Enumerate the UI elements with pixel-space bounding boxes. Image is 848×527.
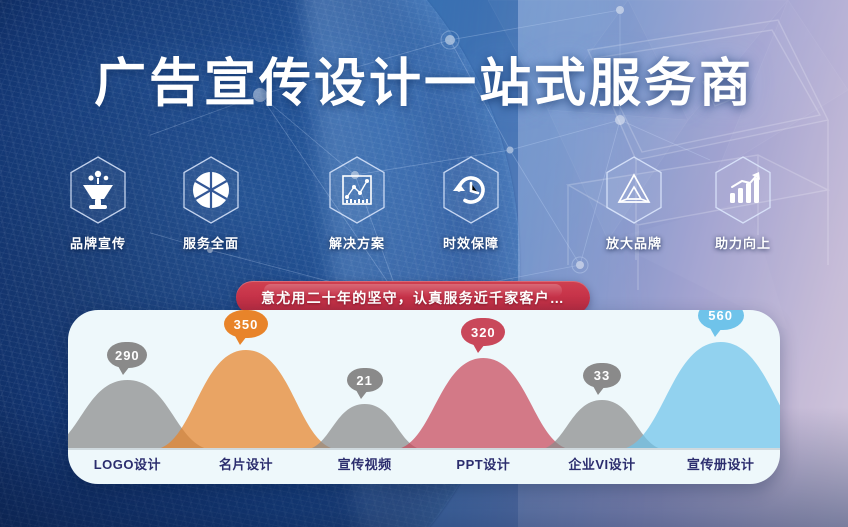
- chart-baseline: [68, 448, 780, 450]
- category-label-2: 宣传视频: [305, 454, 424, 473]
- value-bubble-text: 320: [471, 325, 496, 340]
- feature-item-amplify-brand[interactable]: 放大品牌: [580, 155, 688, 252]
- bubble-tail: [118, 366, 130, 375]
- value-bubble-2: 21: [347, 368, 383, 392]
- bubble-tail: [473, 344, 485, 353]
- value-bubble-text: 350: [234, 317, 259, 332]
- value-bubble-0: 290: [107, 342, 147, 368]
- clock-rotate-icon: [440, 155, 502, 225]
- feature-label: 品牌宣传: [44, 233, 152, 252]
- feature-label: 助力向上: [689, 233, 797, 252]
- bubble-tail: [356, 390, 368, 399]
- category-label-0: LOGO设计: [68, 454, 187, 473]
- page-title: 广告宣传设计一站式服务商: [0, 58, 848, 110]
- value-bubble-text: 560: [708, 310, 733, 323]
- aperture-icon: [180, 155, 242, 225]
- bar-growth-icon: [712, 155, 774, 225]
- value-bubble-1: 350: [224, 310, 268, 338]
- bell-curve-chart: [68, 330, 780, 450]
- value-bubble-text: 21: [356, 373, 372, 388]
- feature-label: 解决方案: [303, 233, 411, 252]
- category-label-5: 宣传册设计: [661, 454, 780, 473]
- feature-label: 放大品牌: [580, 233, 688, 252]
- category-label-4: 企业VI设计: [543, 454, 662, 473]
- value-bubble-text: 290: [115, 348, 140, 363]
- bell-curve-2: [303, 404, 427, 450]
- megaphone-icon: [67, 155, 129, 225]
- feature-label: 服务全面: [157, 233, 265, 252]
- bell-curve-1: [151, 350, 341, 450]
- bubble-tail: [593, 386, 605, 395]
- feature-item-brand-promotion[interactable]: 品牌宣传: [44, 155, 152, 252]
- category-label-3: PPT设计: [424, 454, 543, 473]
- category-label-1: 名片设计: [187, 454, 306, 473]
- bubble-tail: [235, 336, 247, 345]
- feature-icon-row: 品牌宣传: [0, 155, 848, 250]
- value-bubble-5: 560: [698, 310, 744, 330]
- value-bubble-4: 33: [583, 363, 621, 388]
- feature-item-boost-upward[interactable]: 助力向上: [689, 155, 797, 252]
- poster-canvas: 广告宣传设计一站式服务商 品牌宣传: [0, 0, 848, 527]
- value-bubble-text: 33: [594, 368, 610, 383]
- chart-card: 290 350 21 320 33 560 LOGO设计名片设计宣传视频PPT设…: [68, 310, 780, 484]
- bubble-tail: [710, 328, 722, 337]
- promo-banner-text: 意尤用二十年的坚守，认真服务近千家客户…: [261, 288, 565, 308]
- bell-curve-3: [391, 358, 575, 450]
- value-bubble-3: 320: [461, 318, 505, 346]
- feature-label: 时效保障: [417, 233, 525, 252]
- line-chart-icon: [326, 155, 388, 225]
- feature-item-timeliness[interactable]: 时效保障: [417, 155, 525, 252]
- feature-item-full-service[interactable]: 服务全面: [157, 155, 265, 252]
- category-label-row: LOGO设计名片设计宣传视频PPT设计企业VI设计宣传册设计: [68, 452, 780, 478]
- feature-item-solutions[interactable]: 解决方案: [303, 155, 411, 252]
- pyramid-icon: [603, 155, 665, 225]
